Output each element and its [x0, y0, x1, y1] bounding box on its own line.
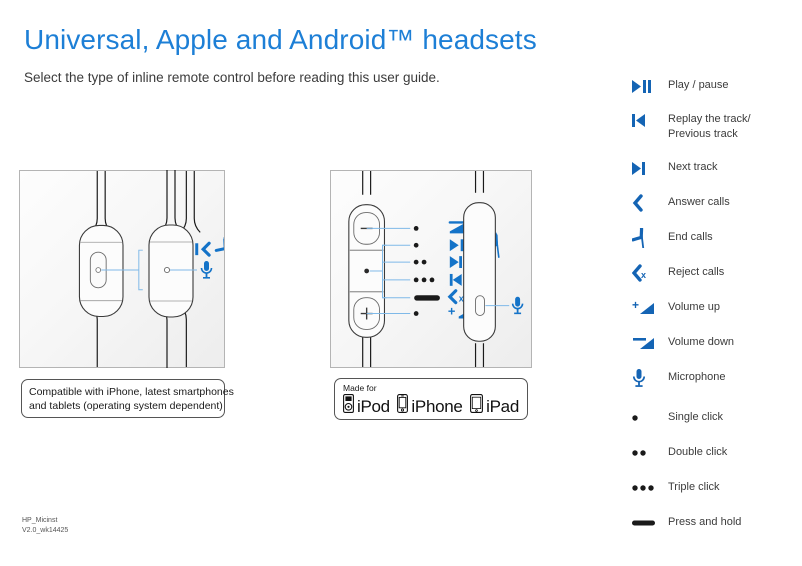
legend-item-triple-click: Triple click: [630, 480, 798, 496]
previous-track-icon: [630, 112, 664, 128]
legend-label: Reject calls: [664, 265, 724, 280]
universal-remote-illustration: [20, 171, 224, 367]
page-subtitle: Select the type of inline remote control…: [24, 70, 440, 85]
press-hold-icon: [630, 515, 664, 531]
legend-label: Double click: [664, 445, 727, 460]
legend-item-answer-calls: Answer calls: [630, 195, 798, 211]
legend-label: Volume down: [664, 335, 734, 350]
legend-label: Microphone: [664, 370, 725, 385]
page-title: Universal, Apple and Android™ headsets: [24, 24, 537, 56]
legend-item-microphone: Microphone: [630, 370, 798, 386]
legend-label: Answer calls: [664, 195, 730, 210]
made-for-apple-badge: Made for iPod iPhone: [334, 378, 528, 420]
legend-label: Single click: [664, 410, 723, 425]
legend-item-press-and-hold: Press and hold: [630, 515, 798, 531]
legend-item-double-click: Double click: [630, 445, 798, 461]
apple-remote-illustration: x +: [331, 171, 531, 367]
caption-line-2: and tablets (operating system dependent): [29, 399, 217, 413]
single-click-icon: [630, 410, 664, 426]
legend-item-volume-down: Volume down: [630, 335, 798, 351]
legend-label: Play / pause: [664, 78, 729, 93]
caption-line-1: Compatible with iPhone, latest smartphon…: [29, 385, 217, 399]
play-pause-icon: [630, 78, 664, 94]
universal-compatibility-caption: Compatible with iPhone, latest smartphon…: [21, 379, 225, 418]
legend-label-line2: Previous track: [668, 128, 738, 140]
legend-item-reject-calls: x Reject calls: [630, 265, 798, 281]
end-call-icon: [630, 230, 664, 246]
volume-up-icon: +: [630, 300, 664, 316]
legend-label: Volume up: [664, 300, 720, 315]
answer-call-icon: [630, 195, 664, 211]
iphone-icon: [397, 394, 408, 418]
reject-call-icon: x: [630, 265, 664, 281]
footer-line-2: V2.0_wk14425: [22, 526, 68, 536]
footer-line-1: HP_Micinst: [22, 516, 68, 526]
legend-label-line1: Replay the track/: [668, 113, 751, 125]
legend-item-previous-track: Replay the track/ Previous track: [630, 112, 798, 141]
footer: HP_Micinst V2.0_wk14425: [22, 516, 68, 535]
document-page: Universal, Apple and Android™ headsets S…: [0, 0, 802, 566]
apple-remote-panel: x +: [330, 170, 532, 368]
legend-item-play-pause: Play / pause: [630, 78, 798, 94]
next-track-icon: [630, 160, 664, 176]
universal-remote-panel: [19, 170, 225, 368]
svg-text:+: +: [448, 304, 456, 319]
legend-label: Next track: [664, 160, 718, 175]
ipod-label: iPod: [357, 397, 390, 416]
double-click-icon: [630, 445, 664, 461]
volume-down-icon: [630, 335, 664, 351]
svg-text:x: x: [641, 270, 646, 280]
legend-item-next-track: Next track: [630, 160, 798, 176]
legend-label: End calls: [664, 230, 713, 245]
ipod-icon: [343, 394, 354, 418]
ipad-icon: [470, 394, 483, 418]
iphone-label: iPhone: [411, 397, 462, 416]
legend-item-single-click: Single click: [630, 410, 798, 426]
legend-label: Replay the track/ Previous track: [664, 112, 751, 141]
svg-text:+: +: [632, 299, 639, 312]
ipad-label: iPad: [486, 397, 519, 416]
made-for-device-row: iPod iPhone iPad: [343, 394, 519, 418]
legend-label: Press and hold: [664, 515, 741, 530]
triple-click-icon: [630, 480, 664, 496]
made-for-label: Made for: [343, 383, 519, 393]
microphone-icon: [630, 370, 664, 386]
legend-label: Triple click: [664, 480, 720, 495]
legend-item-volume-up: + Volume up: [630, 300, 798, 316]
svg-text:x: x: [459, 294, 464, 304]
legend-item-end-calls: End calls: [630, 230, 798, 246]
